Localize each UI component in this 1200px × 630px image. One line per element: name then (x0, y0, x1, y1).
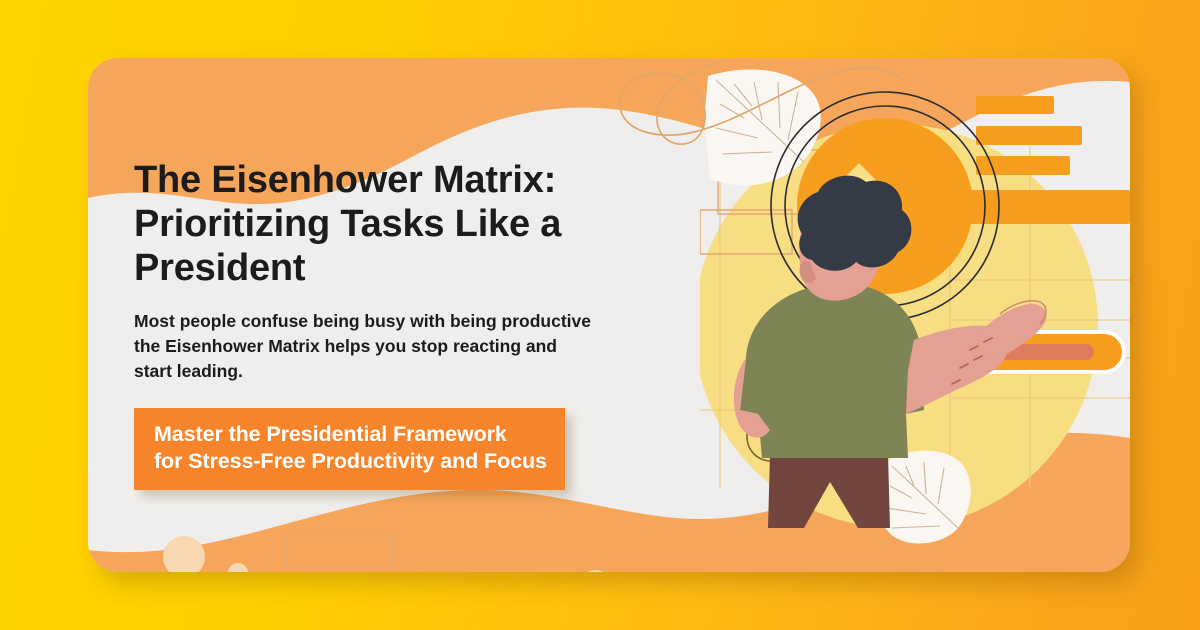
text-column: The Eisenhower Matrix: Prioritizing Task… (134, 158, 724, 490)
content-card: The Eisenhower Matrix: Prioritizing Task… (88, 58, 1130, 572)
subtitle-text: Most people confuse being busy with bein… (134, 309, 694, 384)
page-title: The Eisenhower Matrix: Prioritizing Task… (134, 158, 724, 290)
deco-circle-large-right (578, 570, 613, 572)
deco-rect-upper (286, 535, 393, 567)
bar-stack (976, 96, 1082, 175)
deco-circle-large-left (163, 536, 205, 572)
poster-canvas: The Eisenhower Matrix: Prioritizing Task… (0, 0, 1200, 630)
deco-circle-small-left (228, 563, 248, 572)
cta-banner[interactable]: Master the Presidential Framework for St… (134, 408, 565, 490)
cta-banner-text: Master the Presidential Framework for St… (154, 421, 547, 476)
